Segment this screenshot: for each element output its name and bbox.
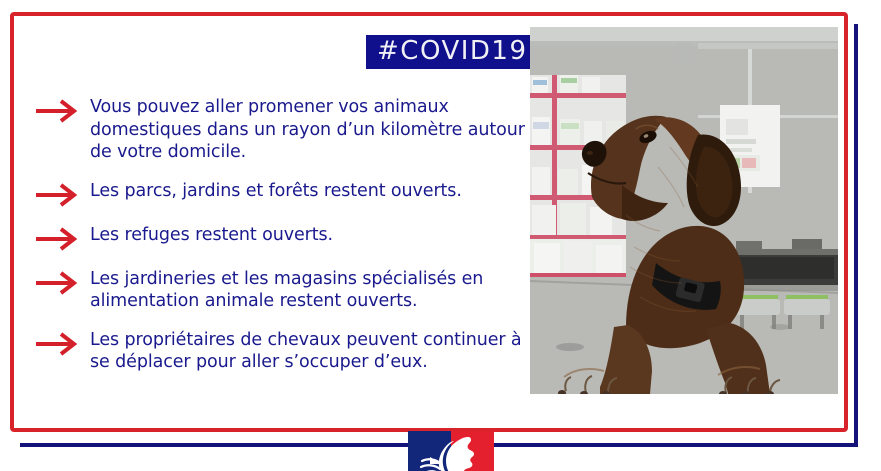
poster-content: #COVID19 Vous pouvez aller promener vos …	[10, 12, 848, 432]
list-item-label: Les jardineries et les magasins spéciali…	[90, 268, 539, 313]
arrow-right-icon	[34, 182, 80, 208]
arrow-right-icon	[34, 270, 80, 296]
list-item: Vous pouvez aller promener vos animaux d…	[34, 96, 539, 164]
dog-photo	[530, 27, 838, 394]
poster-canvas: #COVID19 Vous pouvez aller promener vos …	[0, 0, 881, 471]
list-item-label: Vous pouvez aller promener vos animaux d…	[90, 96, 539, 164]
bullet-list: Vous pouvez aller promener vos animaux d…	[34, 96, 539, 374]
list-item: Les refuges restent ouverts.	[34, 224, 539, 252]
list-item: Les parcs, jardins et forêts restent ouv…	[34, 180, 539, 208]
arrow-right-icon	[34, 98, 80, 124]
arrow-right-icon	[34, 331, 80, 357]
list-item: Les jardineries et les magasins spéciali…	[34, 268, 539, 313]
list-item-label: Les refuges restent ouverts.	[90, 224, 333, 247]
list-item-label: Les parcs, jardins et forêts restent ouv…	[90, 180, 462, 203]
marianne-french-republic-logo	[408, 431, 494, 471]
arrow-right-icon	[34, 226, 80, 252]
list-item: Les propriétaires de chevaux peuvent con…	[34, 329, 539, 374]
covid19-badge: #COVID19	[366, 35, 539, 69]
list-item-label: Les propriétaires de chevaux peuvent con…	[90, 329, 539, 374]
